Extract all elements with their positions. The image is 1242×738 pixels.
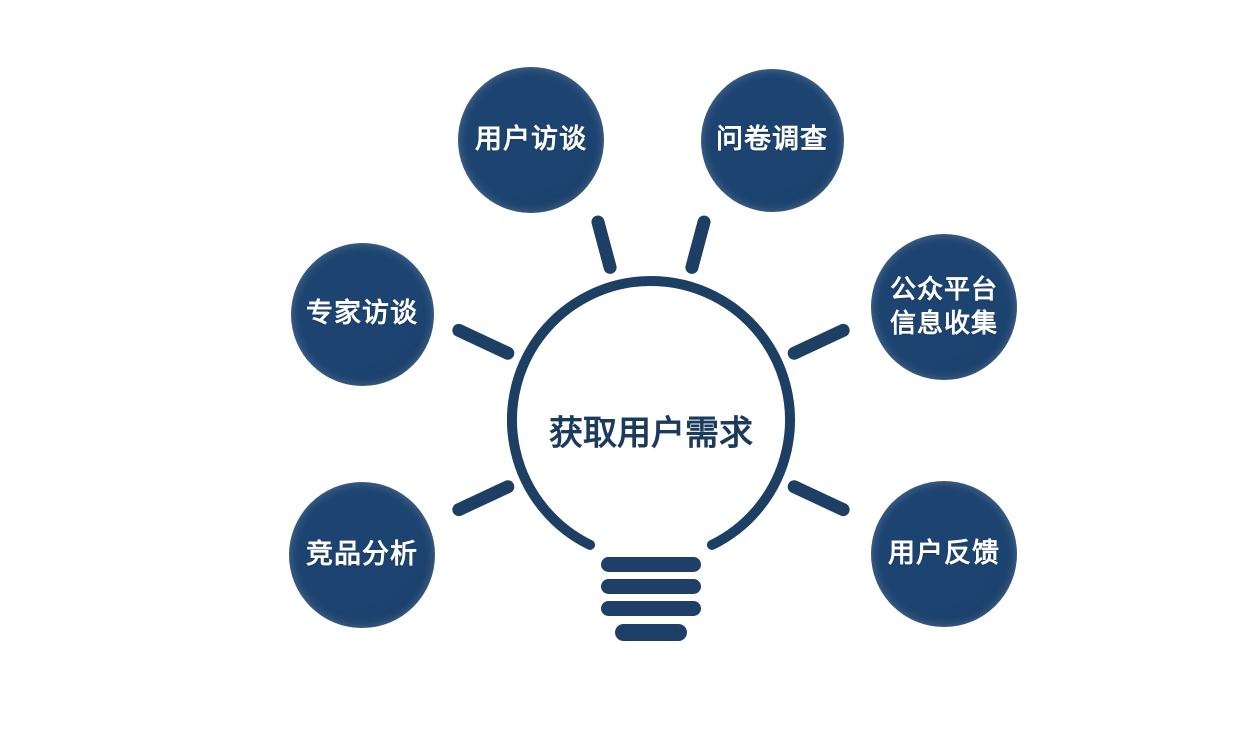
node-label-line: 专家访谈 bbox=[306, 296, 418, 332]
node-competitor-analysis[interactable]: 竞品分析 bbox=[289, 482, 435, 628]
base-bar-2 bbox=[601, 579, 701, 594]
node-user-interview[interactable]: 用户访谈 bbox=[458, 67, 604, 213]
node-label-line: 公众平台 bbox=[890, 273, 998, 307]
ray-top-left bbox=[598, 222, 610, 267]
node-public-platform-info[interactable]: 公众平台信息收集 bbox=[871, 234, 1017, 380]
ray-right-lower bbox=[794, 487, 843, 510]
node-label-line: 用户反馈 bbox=[888, 536, 1000, 572]
ray-top-right bbox=[692, 222, 704, 267]
base-bar-3 bbox=[601, 601, 701, 616]
node-label-line: 竞品分析 bbox=[306, 537, 418, 573]
node-label-line: 用户访谈 bbox=[475, 122, 587, 158]
node-questionnaire-survey[interactable]: 问卷调查 bbox=[701, 69, 844, 212]
ray-right-upper bbox=[794, 330, 843, 353]
node-label-line: 信息收集 bbox=[890, 307, 998, 341]
ray-left-upper bbox=[459, 330, 508, 353]
diagram-canvas: 用户访谈问卷调查专家访谈公众平台信息收集竞品分析用户反馈 获取用户需求 bbox=[0, 0, 1242, 738]
node-expert-interview[interactable]: 专家访谈 bbox=[291, 243, 434, 386]
node-user-feedback[interactable]: 用户反馈 bbox=[871, 481, 1017, 627]
base-bar-1 bbox=[601, 557, 701, 572]
lightbulb-diagram-svg bbox=[0, 0, 1242, 738]
node-label-line: 问卷调查 bbox=[716, 122, 828, 158]
ray-left-lower bbox=[459, 487, 508, 510]
center-label: 获取用户需求 bbox=[549, 406, 753, 455]
base-bar-4 bbox=[615, 624, 687, 641]
